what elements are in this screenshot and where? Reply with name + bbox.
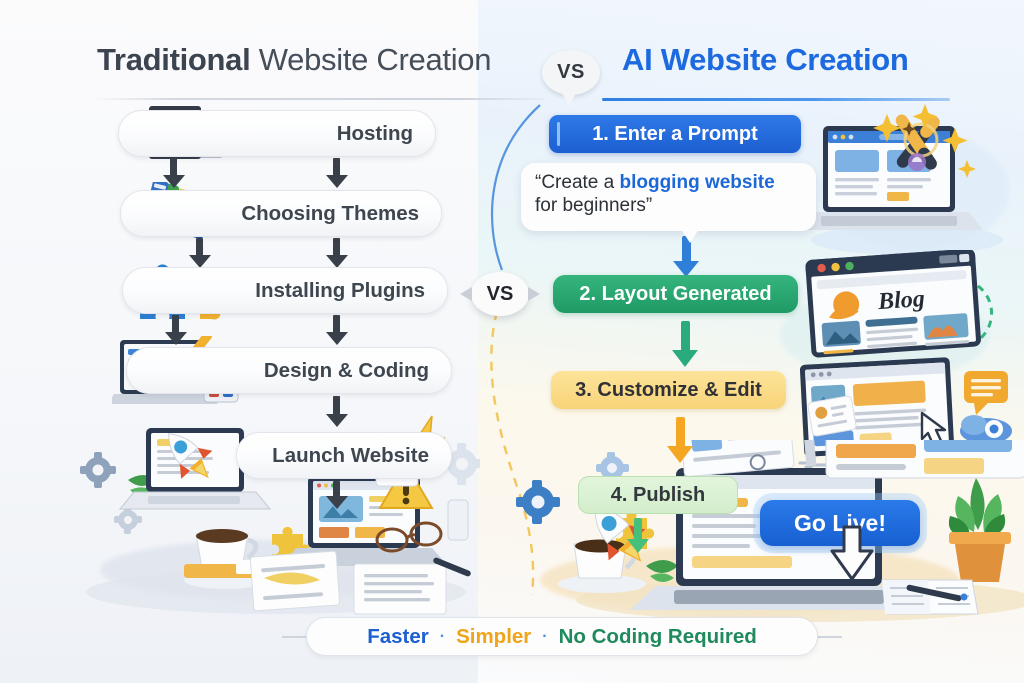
header: Traditional Website Creation VS AI Websi… [0, 18, 1024, 90]
left-step-choosing-themes[interactable]: Choosing Themes [120, 190, 442, 237]
left-arrow-shaft [333, 238, 340, 256]
blog-browser-mockup: Blog [800, 250, 1000, 362]
gear-icon [80, 452, 116, 488]
chat-bubble-icon [964, 371, 1008, 415]
left-arrow-shaft [172, 315, 179, 333]
left-arrow-shaft [333, 396, 340, 415]
vs-badge-header: VS [542, 50, 600, 95]
page-title-right: AI Website Creation [622, 42, 909, 78]
prompt-line-1: “Create a blogging website [535, 172, 802, 194]
right-step-customize-edit[interactable]: 3. Customize & Edit [551, 371, 786, 409]
footer-item-no-coding: No Coding Required [559, 625, 757, 649]
left-arrow-shaft [333, 158, 340, 176]
left-arrow-head-icon [326, 332, 348, 345]
left-step-label: Hosting [337, 122, 413, 146]
vs-badge-header-label: VS [557, 61, 585, 84]
right-arrow-green [672, 321, 698, 369]
right-step-label: 1. Enter a Prompt [592, 123, 758, 146]
cursor-hand-icon [826, 525, 878, 583]
right-step-enter-prompt[interactable]: 1. Enter a Prompt [549, 115, 801, 153]
left-step-installing-plugins[interactable]: Installing Plugins [122, 267, 448, 314]
prompt-line-1-prefix: “Create a [535, 172, 619, 193]
left-step-design-coding[interactable]: Design & Coding [126, 347, 452, 394]
left-arrow-head-icon [326, 496, 348, 509]
prompt-bubble: “Create a blogging website for beginners… [521, 163, 816, 231]
left-arrow-shaft [196, 238, 203, 256]
right-step-label: 3. Customize & Edit [575, 379, 762, 402]
infographic-canvas: Traditional Website Creation VS AI Websi… [0, 0, 1024, 683]
vs-badge-center-label: VS [487, 283, 514, 306]
left-arrow-head-icon [326, 175, 348, 188]
left-arrow-shaft [170, 158, 177, 176]
vs-wing-right-icon [528, 287, 540, 301]
left-arrow-shaft [333, 481, 340, 497]
footer-benefits: Faster · Simpler · No Coding Required [306, 617, 818, 656]
left-arrow-head-icon [326, 414, 348, 427]
right-step-publish[interactable]: 4. Publish [578, 476, 738, 514]
prompt-line-2: for beginners” [535, 195, 802, 217]
footer-item-simpler: Simpler [456, 625, 531, 649]
page-title-left: Traditional Website Creation [97, 42, 491, 78]
footer-separator-dot: · [440, 628, 445, 646]
right-arrow-green-small [627, 518, 649, 556]
prompt-line-1-highlight: blogging website [619, 172, 774, 193]
left-step-label: Installing Plugins [255, 279, 425, 303]
left-step-label: Choosing Themes [241, 202, 419, 226]
gear-icon [114, 506, 142, 534]
left-arrow-head-icon [165, 332, 187, 345]
gear-icon [516, 480, 560, 524]
left-step-launch-website[interactable]: Launch Website [236, 432, 452, 479]
right-arrow-orange [667, 417, 693, 465]
page-title-left-rest: Website Creation [250, 42, 491, 77]
vs-wing-left-icon [460, 287, 472, 301]
left-step-label: Design & Coding [264, 359, 429, 383]
blog-mockup-title: Blog [876, 286, 925, 315]
ai-laptop-wand-illustration [795, 100, 1020, 260]
left-arrow-head-icon [163, 175, 185, 188]
right-step-label: 2. Layout Generated [579, 283, 771, 306]
right-step-layout-generated[interactable]: 2. Layout Generated [553, 275, 798, 313]
footer-item-faster: Faster [367, 625, 429, 649]
footer-separator-dot: · [542, 628, 547, 646]
left-arrow-shaft [333, 315, 340, 333]
left-step-label: Launch Website [272, 444, 429, 468]
left-step-hosting[interactable]: Hosting [118, 110, 436, 157]
page-title-left-strong: Traditional [97, 42, 250, 77]
right-step-label: 4. Publish [611, 484, 705, 507]
vs-badge-center: VS [471, 272, 529, 316]
